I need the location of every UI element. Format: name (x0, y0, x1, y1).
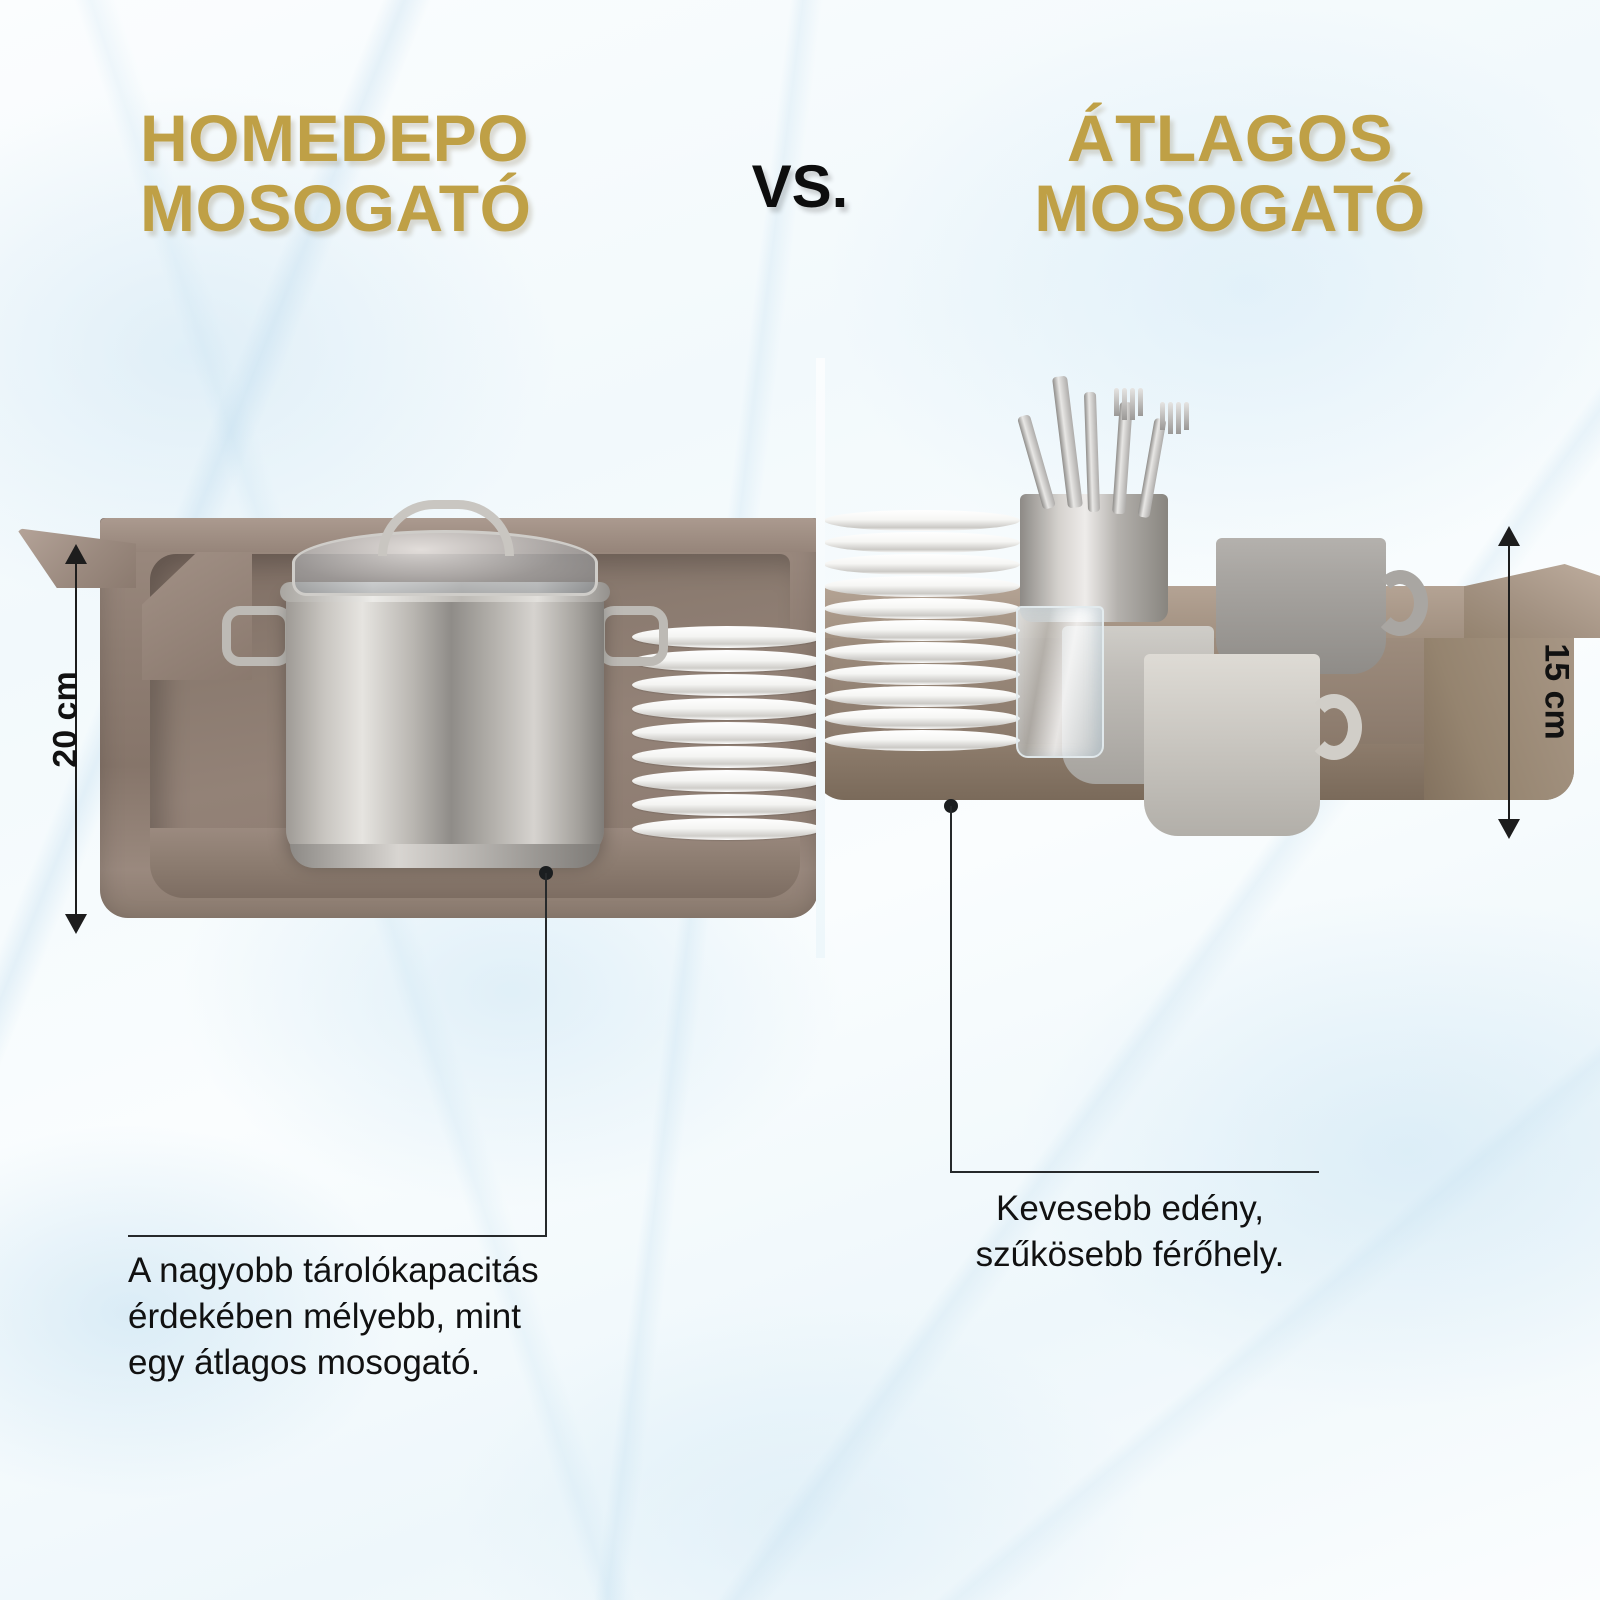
right-product-title: ÁTLAGOS MOSOGATÓ (960, 104, 1500, 244)
plate (824, 554, 1020, 575)
pot-handle-left-icon (222, 606, 294, 666)
fork-tine-icon (1168, 402, 1173, 434)
arrow-head-up-icon (1498, 526, 1520, 546)
arrow-head-down-icon (1498, 819, 1520, 839)
versus-label: VS. (700, 152, 900, 221)
stock-pot-lid-handle (378, 500, 514, 556)
plate (824, 620, 1020, 641)
mug-light-beige (1144, 654, 1320, 836)
fork-tine-icon (1130, 388, 1135, 420)
fork-tine-icon (1138, 388, 1143, 416)
fork-tine-icon (1160, 402, 1165, 430)
left-product-title: HOMEDEPO MOSOGATÓ (140, 104, 680, 244)
fork-tine-icon (1176, 402, 1181, 434)
plate (632, 746, 818, 768)
stock-pot-body (286, 588, 604, 858)
plate (824, 642, 1020, 663)
photo-split-divider (816, 358, 825, 958)
drinking-glass (1016, 606, 1104, 758)
stock-pot-base (290, 844, 600, 868)
right-sink-flare (1464, 564, 1600, 638)
right-depth-label: 15 cm (1537, 643, 1576, 739)
left-callout-leader-horizontal (128, 1235, 547, 1237)
poster-canvas: HOMEDEPO MOSOGATÓ VS. ÁTLAGOS MOSOGATÓ (0, 0, 1600, 1600)
plate (632, 674, 818, 696)
plate (632, 698, 818, 720)
right-sink-photo (824, 358, 1600, 958)
right-callout-leader-vertical (950, 806, 952, 1173)
plate (632, 794, 818, 816)
pot-handle-right-icon (596, 606, 668, 666)
comparison-photo-band (0, 358, 1600, 958)
right-callout-text: Kevesebb edény, szűkösebb férőhely. (930, 1186, 1330, 1278)
fork-tine-icon (1122, 388, 1127, 420)
plate (632, 722, 818, 744)
fork-tine-icon (1184, 402, 1189, 430)
plate (824, 664, 1020, 685)
arrow-head-down-icon (65, 914, 87, 934)
left-sink-photo (0, 358, 818, 958)
plate (824, 708, 1020, 729)
fork-tine-icon (1114, 388, 1119, 416)
right-callout-leader-horizontal (950, 1171, 1319, 1173)
plate (824, 730, 1020, 751)
plate (824, 532, 1020, 553)
knife-icon (1052, 376, 1083, 509)
plate (824, 598, 1020, 619)
right-depth-arrow (1508, 545, 1510, 820)
mug-handle-icon (1306, 694, 1362, 760)
plate (824, 510, 1020, 531)
plate (632, 818, 818, 840)
arrow-head-up-icon (65, 544, 87, 564)
plate (632, 770, 818, 792)
plate (824, 686, 1020, 707)
plate (824, 576, 1020, 597)
left-callout-leader-vertical (545, 873, 547, 1236)
left-callout-text: A nagyobb tárolókapacitás érdekében mély… (128, 1248, 648, 1387)
mug-handle-icon (1372, 570, 1428, 636)
left-depth-label: 20 cm (47, 671, 86, 767)
right-plate-stack (824, 510, 1020, 760)
